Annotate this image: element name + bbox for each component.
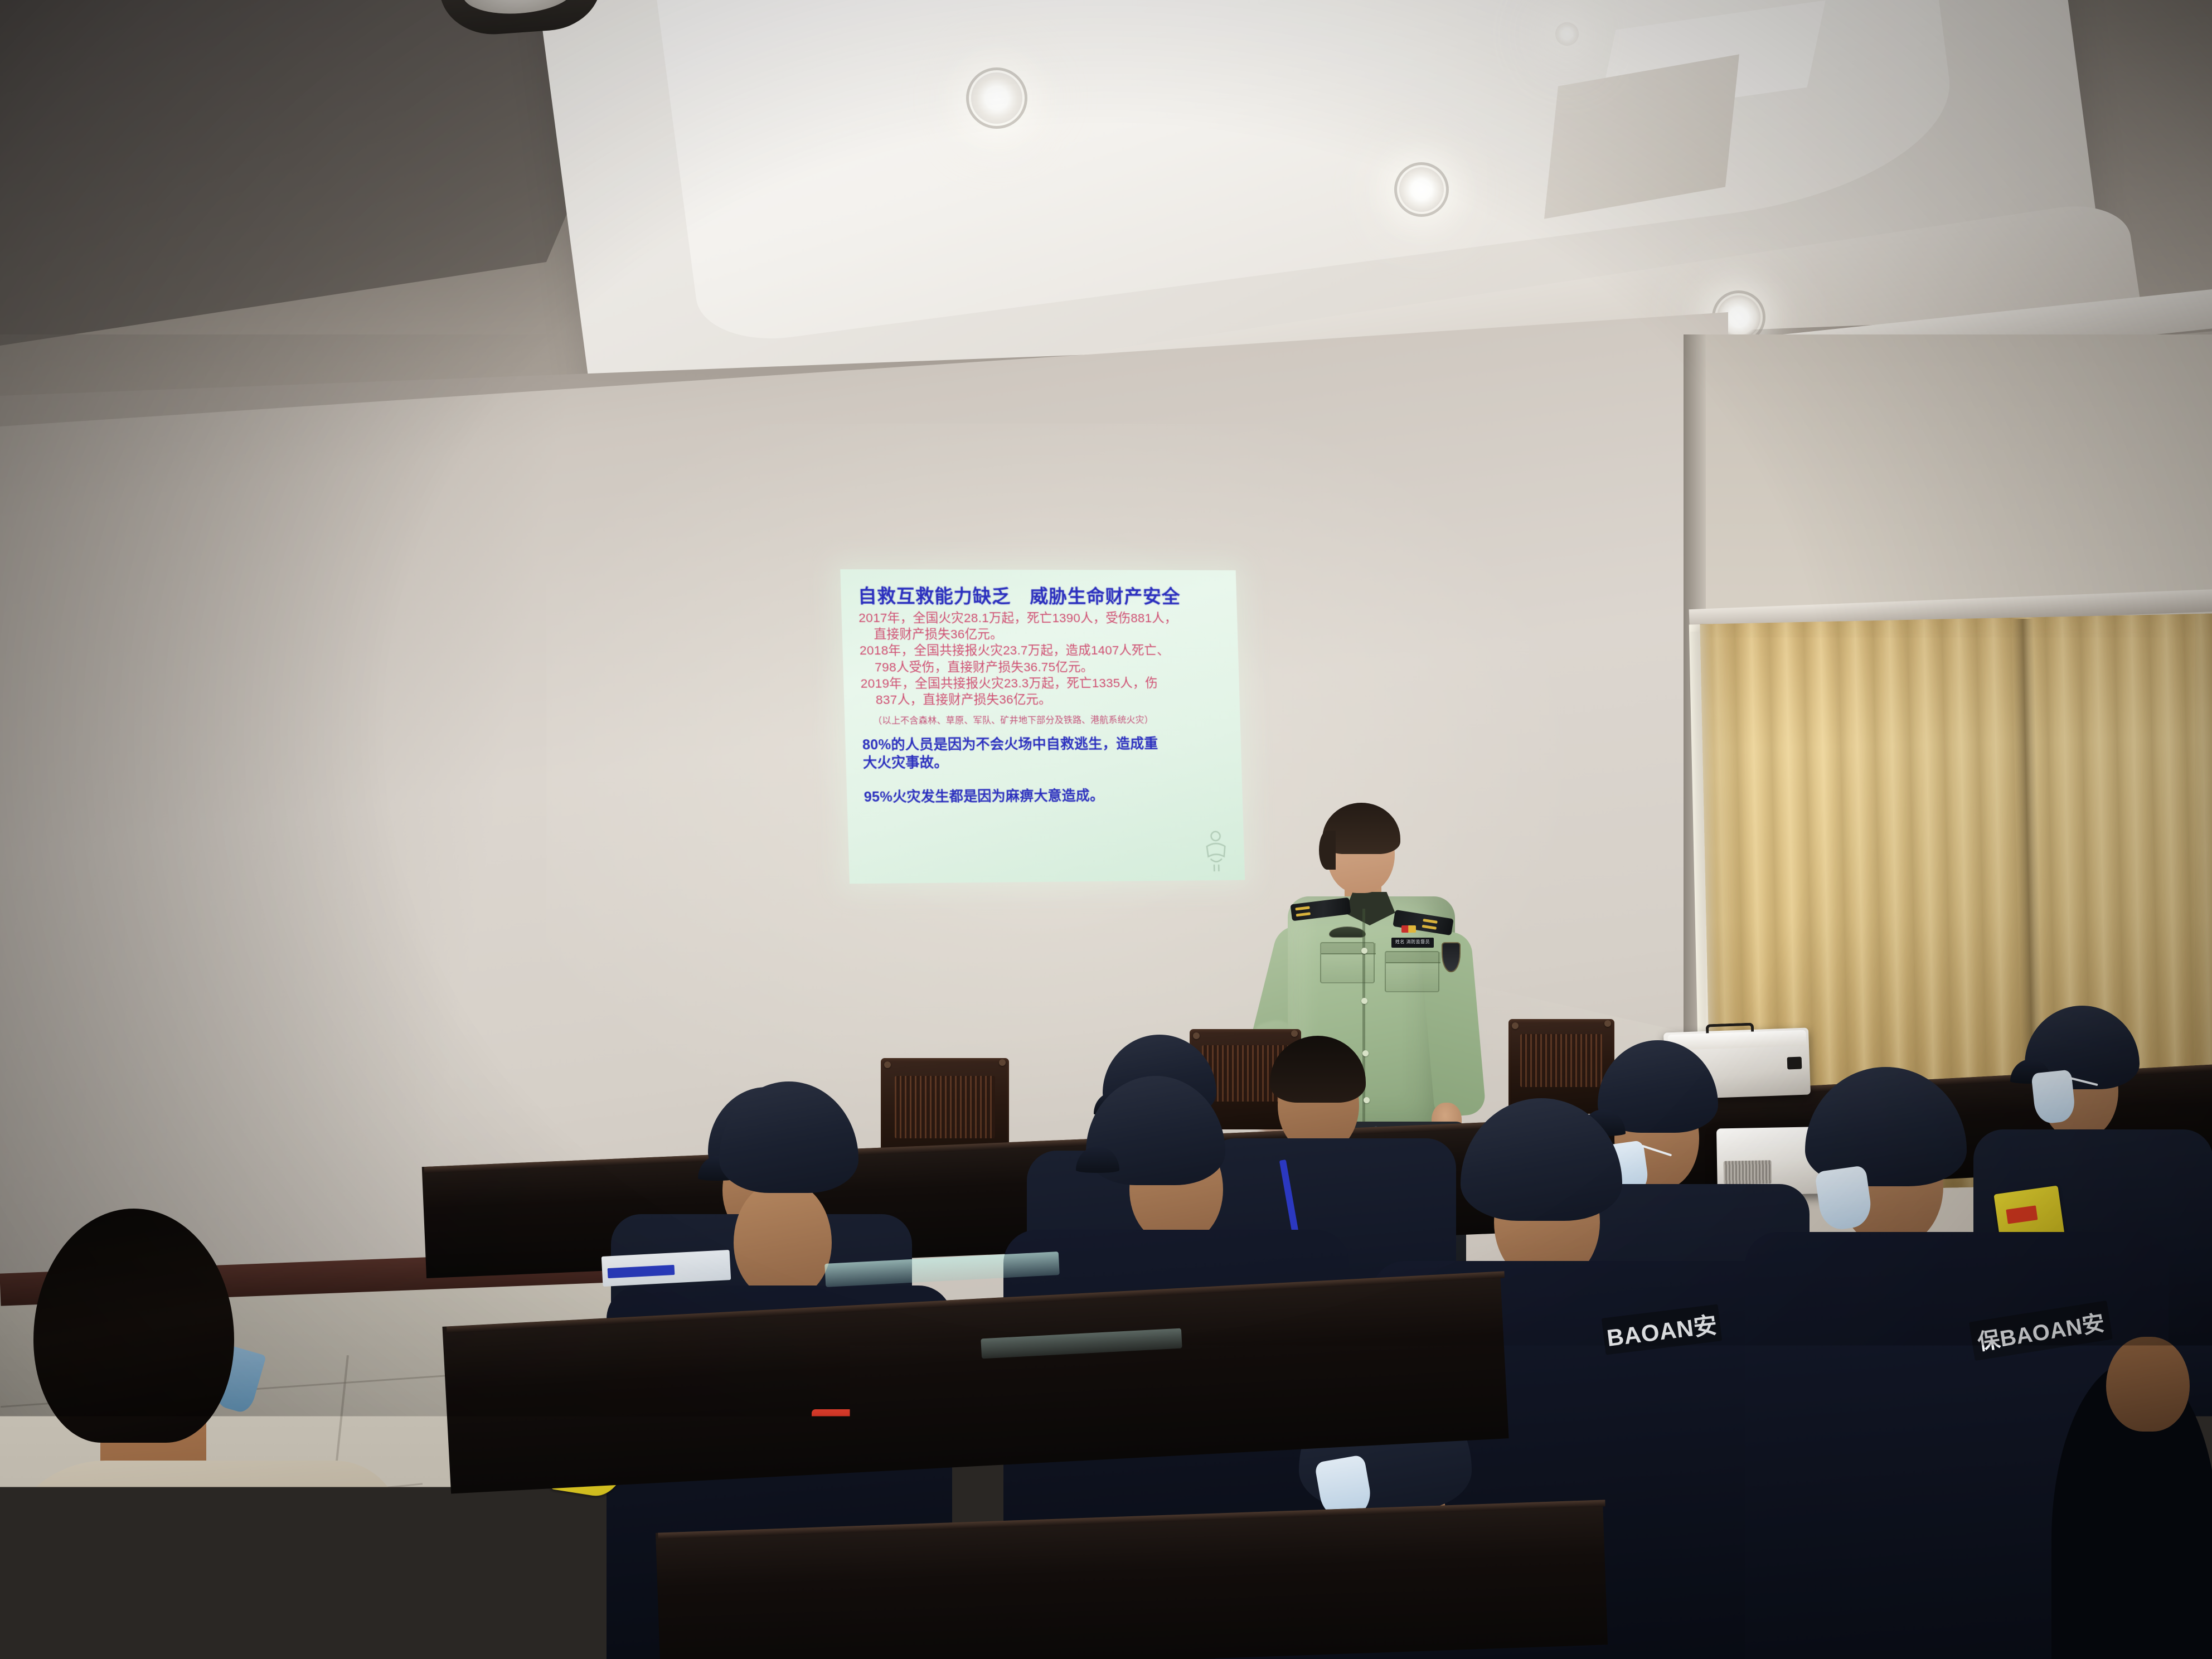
stat-line: 837人，直接财产损失36亿元。	[861, 691, 1225, 709]
presenter-button	[1364, 1097, 1370, 1103]
foreground-shirt	[0, 1461, 401, 1659]
presenter-button	[1362, 1050, 1369, 1056]
ceiling-downlight-2	[1399, 167, 1444, 212]
slide-watermark-icon	[1199, 829, 1234, 872]
ceiling-downlight-5	[1555, 22, 1579, 46]
audience-head	[734, 1182, 832, 1299]
stat-line: 直接财产损失36亿元。	[859, 626, 1224, 642]
projector-vent-grille	[1724, 1160, 1772, 1184]
audience-head	[2106, 1337, 2190, 1432]
slide-title: 自救互救能力缺乏威胁生命财产安全	[858, 586, 1223, 607]
presenter-wing-insignia	[1329, 926, 1366, 938]
slide-point-95: 95%火灾发生都是因为麻痹大意造成。	[864, 787, 1228, 807]
presenter-hair-side	[1319, 831, 1336, 870]
projected-slide: 自救互救能力缺乏威胁生命财产安全 2017年，全国火灾28.1万起，死亡1390…	[840, 569, 1245, 884]
slide-point-80: 80%的人员是因为不会火场中自救逃生，造成重 大火灾事故。	[862, 735, 1228, 772]
case-latch-right[interactable]	[1787, 1057, 1802, 1070]
stat-line: 798人受伤，直接财产损失36.75亿元。	[860, 658, 1224, 675]
bottle-cap[interactable]	[812, 1409, 853, 1436]
bottle-brand-cn: 农夫山泉	[805, 1555, 860, 1567]
stat-line: 2018年，全国共接报火灾23.7万起，造成1407人死亡、	[860, 642, 1224, 659]
lecture-room-photo: 自救互救能力缺乏威胁生命财产安全 2017年，全国火灾28.1万起，死亡1390…	[0, 0, 2212, 1659]
ceiling-downlight-1	[971, 72, 1022, 124]
presenter-button	[1361, 998, 1367, 1004]
stat-line: 2019年，全国共接报火灾23.3万起，死亡1335人，伤	[860, 675, 1225, 692]
presenter-flag-pin	[1401, 925, 1416, 933]
stat-line: 2017年，全国火灾28.1万起，死亡1390人，受伤881人，	[858, 610, 1223, 627]
bottle-brand-en: NONGFU SPRING	[805, 1568, 860, 1573]
presenter-button	[1361, 948, 1367, 954]
presenter-shirt-placket	[1362, 909, 1365, 1126]
presenter-name-badge: 姓名 消防监督员	[1391, 938, 1434, 948]
slide-footnote: （以上不含森林、草原、军队、矿井地下部分及铁路、港航系统火灾）	[861, 712, 1226, 726]
presenter-pocket-right	[1385, 951, 1439, 992]
case-handle[interactable]	[1706, 1023, 1754, 1034]
slide-statistics: 2017年，全国火灾28.1万起，死亡1390人，受伤881人， 直接财产损失3…	[858, 610, 1226, 709]
